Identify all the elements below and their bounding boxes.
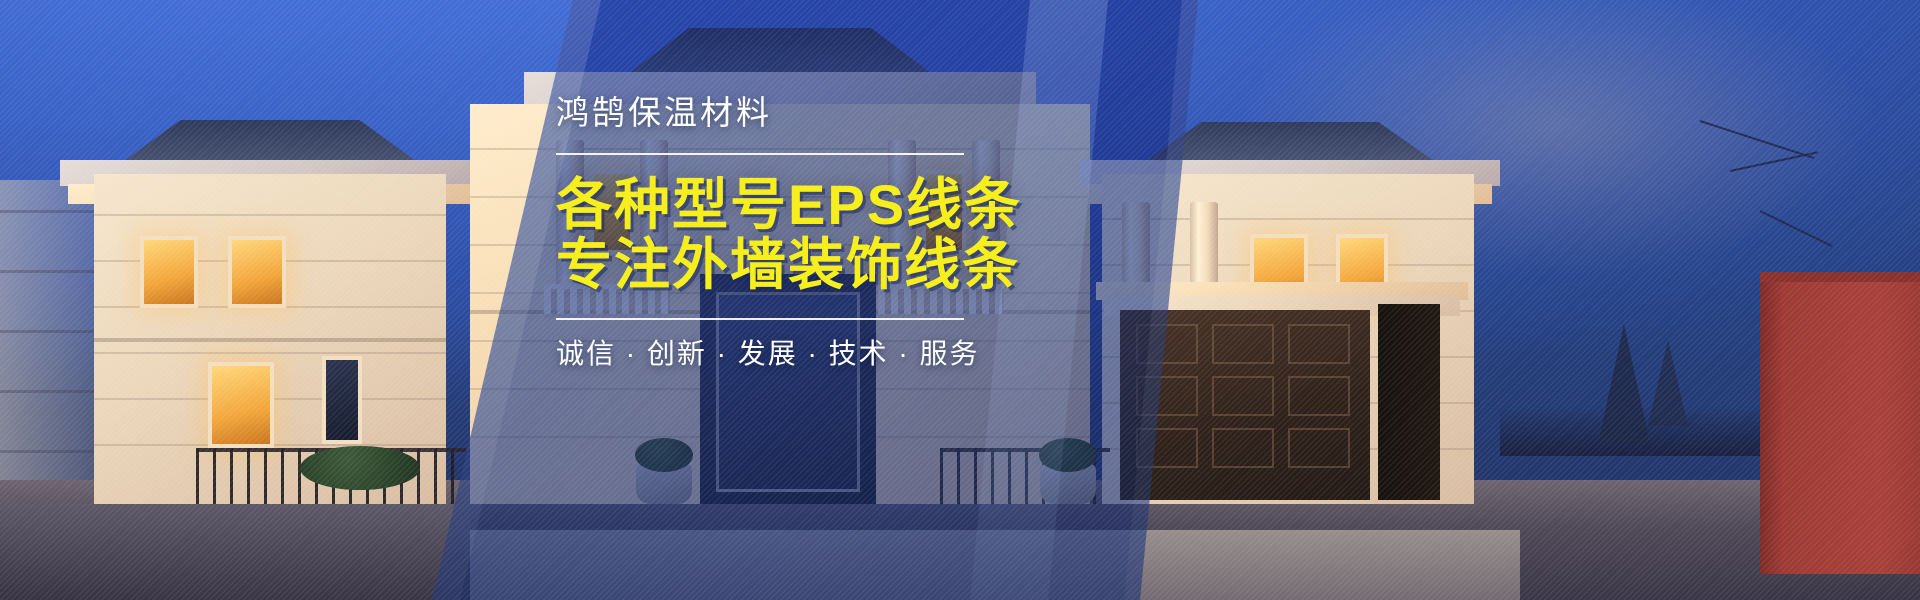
banner-copy: 鸿鹄保温材料 各种型号EPS线条 专注外墙装饰线条 诚信 · 创新 · 发展 ·…: [556, 96, 1196, 368]
tree-icon: [1598, 324, 1650, 444]
villa-left-wing: [60, 100, 480, 504]
red-wall-cap: [1760, 272, 1920, 282]
window-lit: [228, 236, 286, 308]
side-doorway: [1378, 304, 1440, 500]
window-dark: [322, 356, 362, 444]
tree-icon: [1648, 340, 1688, 426]
ground-left: [0, 504, 470, 600]
shrub: [1039, 438, 1097, 472]
driveway: [430, 530, 1520, 600]
divider-bottom: [556, 318, 964, 320]
headline-line-1: 各种型号EPS线条: [556, 175, 1196, 235]
window-lit: [140, 236, 198, 308]
red-wall: [1760, 274, 1920, 574]
shrub: [300, 446, 420, 490]
shrub: [635, 438, 693, 472]
headline-line-2: 专注外墙装饰线条: [556, 235, 1196, 295]
hero-banner: 鸿鹄保温材料 各种型号EPS线条 专注外墙装饰线条 诚信 · 创新 · 发展 ·…: [0, 0, 1920, 600]
headline: 各种型号EPS线条 专注外墙装饰线条: [556, 175, 1196, 296]
tagline: 诚信 · 创新 · 发展 · 技术 · 服务: [556, 340, 1196, 368]
brand-name: 鸿鹄保温材料: [556, 96, 1196, 129]
center-roof: [590, 28, 970, 74]
left-wing-roof: [98, 120, 442, 160]
window-lit: [208, 362, 274, 448]
divider-top: [556, 153, 964, 155]
